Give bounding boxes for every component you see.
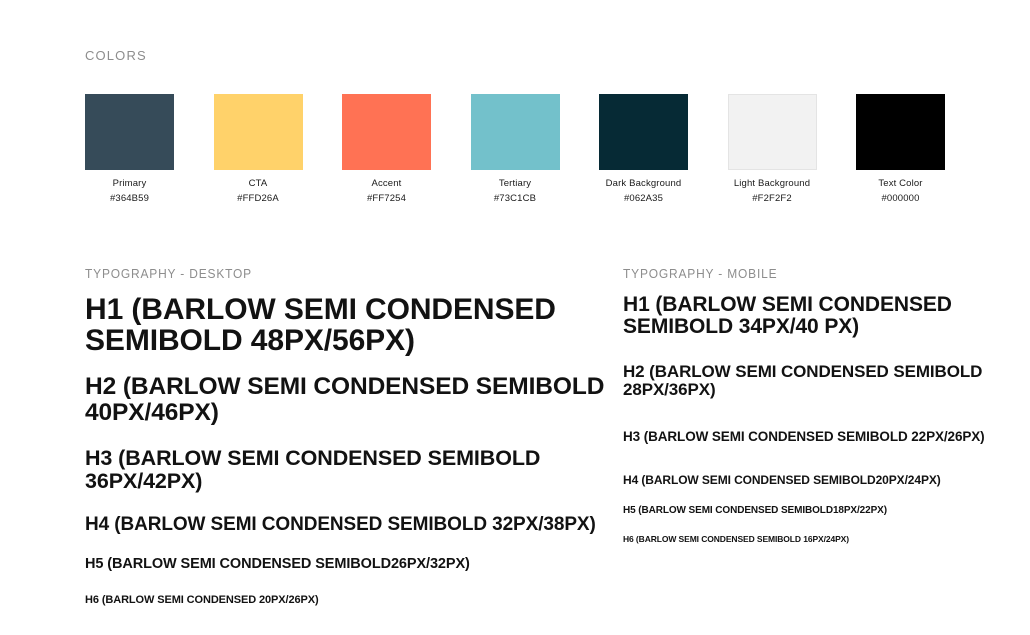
typography-desktop-specimens: H1 (BARLOW SEMI CONDENSED SEMIBOLD 48PX/… xyxy=(85,294,605,606)
color-swatch-name: Primary xyxy=(85,178,174,189)
color-swatch-hex: #F2F2F2 xyxy=(728,193,817,204)
color-swatch-name: CTA xyxy=(214,178,303,189)
color-swatch-hex: #364B59 xyxy=(85,193,174,204)
color-swatch-hex: #73C1CB xyxy=(471,193,560,204)
color-swatch-chip[interactable] xyxy=(856,94,945,170)
color-swatch[interactable]: Text Color#000000 xyxy=(856,94,945,204)
color-swatch[interactable]: CTA#FFD26A xyxy=(214,94,303,204)
color-swatch-chip[interactable] xyxy=(342,94,431,170)
desktop-h3-specimen: H3 (BARLOW SEMI CONDENSED SEMIBOLD 36PX/… xyxy=(85,447,605,493)
color-swatch-chip[interactable] xyxy=(85,94,174,170)
mobile-h1-specimen: H1 (BARLOW SEMI CONDENSED SEMIBOLD 34PX/… xyxy=(623,294,993,338)
color-swatch-name: Tertiary xyxy=(471,178,560,189)
color-swatch[interactable]: Light Background#F2F2F2 xyxy=(728,94,817,204)
color-swatch-chip[interactable] xyxy=(471,94,560,170)
color-swatch-hex: #FF7254 xyxy=(342,193,431,204)
color-swatch[interactable]: Tertiary#73C1CB xyxy=(471,94,560,204)
typography-mobile-heading: TYPOGRAPHY - MOBILE xyxy=(623,266,777,281)
mobile-h3-specimen: H3 (BARLOW SEMI CONDENSED SEMIBOLD 22PX/… xyxy=(623,429,993,444)
color-swatch-hex: #000000 xyxy=(856,193,945,204)
desktop-h1-specimen: H1 (BARLOW SEMI CONDENSED SEMIBOLD 48PX/… xyxy=(85,294,605,356)
desktop-h6-specimen: H6 (BARLOW SEMI CONDENSED 20PX/26PX) xyxy=(85,594,605,606)
mobile-h2-specimen: H2 (BARLOW SEMI CONDENSED SEMIBOLD 28PX/… xyxy=(623,363,993,399)
color-swatch-name: Light Background xyxy=(728,178,817,189)
color-palette: Primary#364B59CTA#FFD26AAccent#FF7254Ter… xyxy=(85,94,955,206)
color-swatch-hex: #FFD26A xyxy=(214,193,303,204)
color-swatch-name: Text Color xyxy=(856,178,945,189)
mobile-h6-specimen: H6 (BARLOW SEMI CONDENSED SEMIBOLD 16PX/… xyxy=(623,535,993,544)
color-swatch[interactable]: Accent#FF7254 xyxy=(342,94,431,204)
desktop-h4-specimen: H4 (BARLOW SEMI CONDENSED SEMIBOLD 32PX/… xyxy=(85,515,605,535)
color-swatch-chip[interactable] xyxy=(214,94,303,170)
color-swatch[interactable]: Primary#364B59 xyxy=(85,94,174,204)
typography-desktop-heading: TYPOGRAPHY - DESKTOP xyxy=(85,266,252,281)
color-swatch-name: Accent xyxy=(342,178,431,189)
colors-section-heading: COLORS xyxy=(85,48,147,63)
mobile-h5-specimen: H5 (BARLOW SEMI CONDENSED SEMIBOLD18PX/2… xyxy=(623,505,993,516)
mobile-h4-specimen: H4 (BARLOW SEMI CONDENSED SEMIBOLD20PX/2… xyxy=(623,474,993,487)
typography-mobile-specimens: H1 (BARLOW SEMI CONDENSED SEMIBOLD 34PX/… xyxy=(623,294,993,544)
color-swatch-name: Dark Background xyxy=(599,178,688,189)
style-guide-page: COLORS Primary#364B59CTA#FFD26AAccent#FF… xyxy=(0,0,1030,635)
desktop-h2-specimen: H2 (BARLOW SEMI CONDENSED SEMIBOLD 40PX/… xyxy=(85,374,605,426)
desktop-h5-specimen: H5 (BARLOW SEMI CONDENSED SEMIBOLD26PX/3… xyxy=(85,556,605,572)
color-swatch[interactable]: Dark Background#062A35 xyxy=(599,94,688,204)
color-swatch-chip[interactable] xyxy=(728,94,817,170)
color-swatch-chip[interactable] xyxy=(599,94,688,170)
color-swatch-hex: #062A35 xyxy=(599,193,688,204)
